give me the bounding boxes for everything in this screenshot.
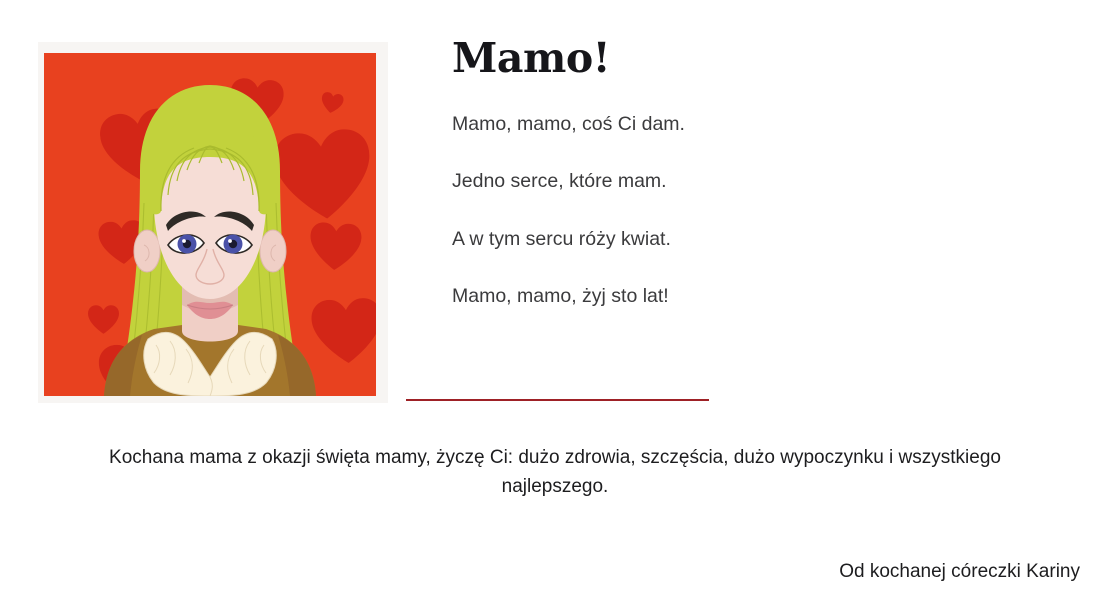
poem-divider-line xyxy=(406,399,709,401)
ear-left xyxy=(134,230,160,272)
mother-portrait-illustration xyxy=(44,53,376,396)
poem-block: Mamo! Mamo, mamo, coś Ci dam. Jedno serc… xyxy=(452,38,882,308)
portrait-svg xyxy=(44,53,376,396)
poem-line-2: Jedno serce, które mam. xyxy=(452,170,882,192)
poem-line-4: Mamo, mamo, żyj sto lat! xyxy=(452,285,882,307)
signature-text: Od kochanej córeczki Kariny xyxy=(839,561,1080,583)
poem-title: Mamo! xyxy=(452,38,882,79)
card-illustration-frame xyxy=(38,42,388,403)
poem-line-1: Mamo, mamo, coś Ci dam. xyxy=(452,113,882,135)
poem-line-3: A w tym sercu róży kwiat. xyxy=(452,228,882,250)
ear-right xyxy=(260,230,286,272)
wish-paragraph: Kochana mama z okazji święta mamy, życzę… xyxy=(95,443,1015,502)
